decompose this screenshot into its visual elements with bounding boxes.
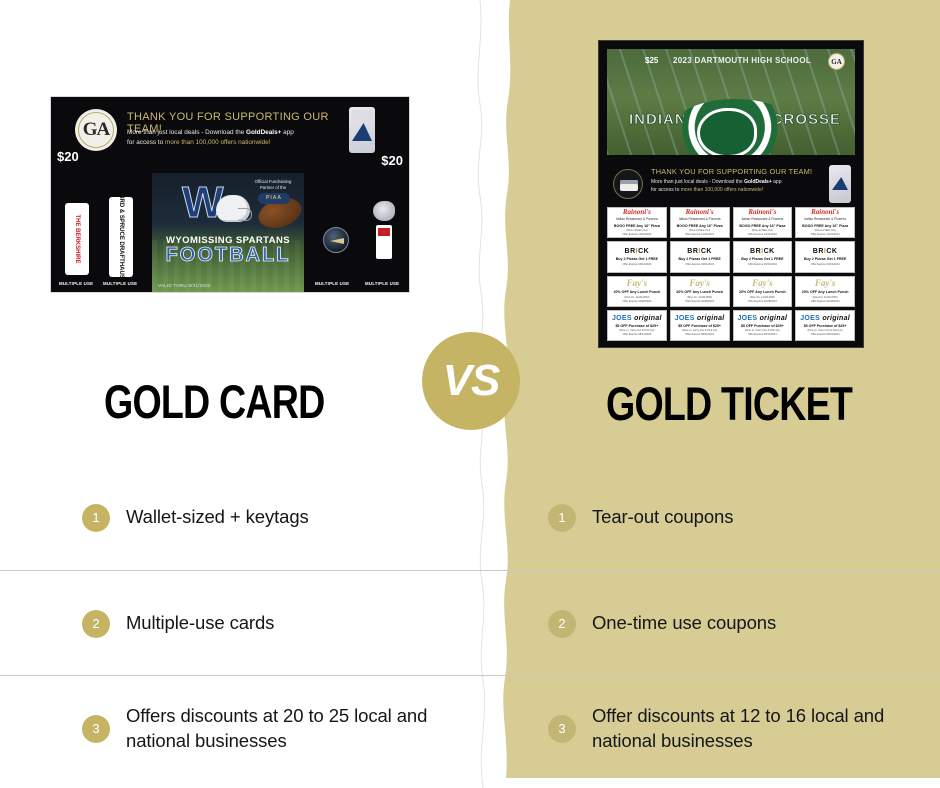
- coupon-brand: Rainoni's: [748, 209, 776, 216]
- logo-ring: [78, 112, 114, 148]
- coupon-note: (Dine-In, Carry-Out & Pick-Up): [682, 329, 717, 332]
- ticket-thanks-row: THANK YOU FOR SUPPORTING OUR TEAM! More …: [609, 165, 853, 205]
- left-title: GOLD CARD: [104, 374, 324, 429]
- feature-text: Offer discounts at 12 to 16 local and na…: [592, 704, 908, 754]
- feature-text: Wallet-sized + keytags: [126, 505, 309, 530]
- coupon: JOES original$5 OFF Purchase of $25+(Din…: [795, 310, 855, 341]
- card-price-left: $20: [57, 149, 79, 164]
- ticket-subline: More than just local deals - Download th…: [651, 178, 826, 194]
- vs-label: VS: [443, 359, 500, 403]
- coupon-tagline: Italian Restaurant & Pizzeria: [742, 217, 784, 221]
- keytag-use-label-2: MULTIPLE USE: [103, 281, 137, 286]
- feature-right-3: 3 Offer discounts at 12 to 16 local and …: [548, 676, 908, 781]
- coupon-offer: 20% OFF Any Lunch Punch: [739, 290, 786, 294]
- vs-badge: VS: [422, 332, 520, 430]
- coin-keytag-icon: [323, 227, 349, 253]
- ticket-school-name: 2023 DARTMOUTH HIGH SCHOOL: [673, 56, 811, 65]
- coupon-offer: $5 OFF Purchase of $25+: [615, 324, 658, 328]
- comparison-row-3: 3 Offers discounts at 20 to 25 local and…: [0, 675, 940, 780]
- coupon-offer: Buy 2 Pizzas Get 1 FREE: [741, 257, 783, 261]
- coupon-note: (Dine-In/Take-Out): [814, 229, 835, 232]
- coupon-offer: 20% OFF Any Lunch Punch: [802, 290, 849, 294]
- coupon-expiry: Offer Expires 02/28/2024: [748, 300, 777, 303]
- gold-athletics-badge-icon: GA: [828, 53, 845, 70]
- coupon-offer: BOGO FREE Any 16" Pizza: [739, 224, 785, 228]
- coupon-expiry: Offer Expires 02/28/2024: [622, 300, 651, 303]
- keytag-use-label-1: MULTIPLE USE: [59, 281, 93, 286]
- hero-valid-thru: VALID THRU 8/31/2022: [158, 283, 211, 288]
- coupon-note: (Mon-Fri, 11AM-2PM): [813, 296, 838, 299]
- wallet-card-icon: [613, 169, 643, 199]
- coupon-expiry: Offer Expires 12/31/2024: [811, 233, 840, 236]
- mini-card-keytag: [376, 225, 392, 259]
- card-subline: More than just local deals - Download th…: [127, 128, 343, 148]
- coupon-expiry: Offer Expires 08/31/2024: [748, 333, 777, 336]
- feature-number-badge: 2: [82, 610, 110, 638]
- feature-number-badge: 3: [82, 715, 110, 743]
- feature-number-badge: 3: [548, 715, 576, 743]
- coupon-note: (Dine-In, Carry-Out & Pick-Up): [745, 329, 780, 332]
- comparison-row-1: 1 Wallet-sized + keytags 1 Tear-out coup…: [0, 465, 940, 570]
- card-price-right: $20: [381, 153, 403, 168]
- keytag-use-label-3: MULTIPLE USE: [315, 281, 349, 286]
- gold-ticket-artwork: $25 2023 DARTMOUTH HIGH SCHOOL GA INDIAN…: [598, 40, 864, 348]
- ticket-phone-app-icon: [829, 165, 851, 203]
- coupon: Rainoni'sItalian Restaurant & PizzeriaBO…: [670, 207, 730, 238]
- coupon: BRICKBuy 2 Pizzas Get 1 FREEOffer Expire…: [733, 241, 793, 272]
- keytag-use-label-4: MULTIPLE USE: [365, 281, 399, 286]
- gold-athletics-logo-icon: GA: [75, 109, 117, 151]
- coupon: JOES original$5 OFF Purchase of $25+(Din…: [670, 310, 730, 341]
- coupon: Rainoni'sItalian Restaurant & PizzeriaBO…: [733, 207, 793, 238]
- coupon: Fay's20% OFF Any Lunch Punch(Mon-Fri, 11…: [607, 276, 667, 307]
- comparison-infographic: GA $20 $20 THANK YOU FOR SUPPORTING OUR …: [0, 0, 940, 788]
- coupon-expiry: Offer Expires 03/31/2024: [685, 263, 714, 266]
- coupon-note: (Mon-Fri, 11AM-2PM): [624, 296, 649, 299]
- coupon-offer: $5 OFF Purchase of $25+: [741, 324, 784, 328]
- coupon-expiry: Offer Expires 03/31/2024: [748, 263, 777, 266]
- feature-left-2: 2 Multiple-use cards: [82, 571, 442, 676]
- fundraising-partner-text: Official Fundraising Partner of the: [247, 179, 299, 191]
- feature-number-badge: 1: [82, 504, 110, 532]
- coupon-note: (Dine-In, Carry-Out & Pick-Up): [619, 329, 654, 332]
- coupon-offer: BOGO FREE Any 16" Pizza: [614, 224, 660, 228]
- ticket-headline: THANK YOU FOR SUPPORTING OUR TEAM!: [651, 167, 812, 176]
- coupon-brand: BRICK: [813, 248, 838, 255]
- hero-team-name: WYOMISSING SPARTANS: [152, 235, 304, 246]
- comparison-row-2: 2 Multiple-use cards 2 One-time use coup…: [0, 570, 940, 675]
- coupon: Fay's20% OFF Any Lunch Punch(Mon-Fri, 11…: [670, 276, 730, 307]
- coupon-expiry: Offer Expires 12/31/2024: [622, 233, 651, 236]
- coupon-note: (Mon-Fri, 11AM-2PM): [687, 296, 712, 299]
- coupon-brand: JOES original: [675, 315, 725, 322]
- coupon-expiry: Offer Expires 12/31/2024: [685, 233, 714, 236]
- feature-right-1: 1 Tear-out coupons: [548, 465, 908, 570]
- feature-text: Multiple-use cards: [126, 611, 274, 636]
- feature-text: One-time use coupons: [592, 611, 776, 636]
- keytag-berkshire: THE BERKSHIRE: [65, 203, 89, 275]
- feature-left-3: 3 Offers discounts at 20 to 25 local and…: [82, 676, 442, 781]
- coupon-offer: 20% OFF Any Lunch Punch: [613, 290, 660, 294]
- feature-text: Offers discounts at 20 to 25 local and n…: [126, 704, 442, 754]
- coupon-offer: $5 OFF Purchase of $25+: [678, 324, 721, 328]
- coupon: Rainoni'sItalian Restaurant & PizzeriaBO…: [795, 207, 855, 238]
- feature-number-badge: 1: [548, 504, 576, 532]
- coupon-brand: Fay's: [627, 279, 648, 288]
- coupon-offer: BOGO FREE Any 16" Pizza: [677, 224, 723, 228]
- ticket-price: $25: [645, 56, 658, 65]
- coupon-brand: BRICK: [687, 248, 712, 255]
- coupon-note: (Mon-Fri, 11AM-2PM): [750, 296, 775, 299]
- gold-card-artwork: GA $20 $20 THANK YOU FOR SUPPORTING OUR …: [50, 96, 410, 293]
- coupon-note: (Dine-In/Take-Out): [752, 229, 773, 232]
- coupon-offer: Buy 2 Pizzas Get 1 FREE: [678, 257, 720, 261]
- coupon-tagline: Italian Restaurant & Pizzeria: [616, 217, 658, 221]
- feature-number-badge: 2: [548, 610, 576, 638]
- feature-right-2: 2 One-time use coupons: [548, 571, 908, 676]
- coupon: BRICKBuy 2 Pizzas Get 1 FREEOffer Expire…: [607, 241, 667, 272]
- coupon: JOES original$5 OFF Purchase of $25+(Din…: [607, 310, 667, 341]
- coupon-offer: $5 OFF Purchase of $25+: [804, 324, 847, 328]
- coupon-brand: JOES original: [800, 315, 850, 322]
- coupon-offer: 20% OFF Any Lunch Punch: [676, 290, 723, 294]
- phone-app-icon: [349, 107, 375, 153]
- coupon-offer: Buy 2 Pizzas Get 1 FREE: [804, 257, 846, 261]
- coupon-note: (Dine-In, Carry-Out & Pick-Up): [808, 329, 843, 332]
- keytag-drafthaus: 3RD & SPRUCE DRAFTHAUS: [109, 197, 133, 277]
- helmet-icon: [216, 195, 250, 222]
- coupon-brand: JOES original: [737, 315, 787, 322]
- coupon: Rainoni'sItalian Restaurant & PizzeriaBO…: [607, 207, 667, 238]
- coupon-brand: Rainoni's: [686, 209, 714, 216]
- coupon-offer: BOGO FREE Any 16" Pizza: [802, 224, 848, 228]
- coupon-brand: Rainoni's: [623, 209, 651, 216]
- comparison-rows: 1 Wallet-sized + keytags 1 Tear-out coup…: [0, 465, 940, 780]
- coupon-note: (Dine-In/Take-Out): [626, 229, 647, 232]
- coupon-expiry: Offer Expires 08/31/2024: [685, 333, 714, 336]
- coupon: JOES original$5 OFF Purchase of $25+(Din…: [733, 310, 793, 341]
- coupon-expiry: Offer Expires 03/31/2024: [622, 263, 651, 266]
- feature-left-1: 1 Wallet-sized + keytags: [82, 465, 442, 570]
- right-title: GOLD TICKET: [606, 376, 852, 431]
- coupon-brand: BRICK: [625, 248, 650, 255]
- coupon-brand: Rainoni's: [811, 209, 839, 216]
- coupon: BRICKBuy 2 Pizzas Get 1 FREEOffer Expire…: [795, 241, 855, 272]
- coupon-offer: Buy 2 Pizzas Get 1 FREE: [616, 257, 658, 261]
- coupon-brand: BRICK: [750, 248, 775, 255]
- coupon-expiry: Offer Expires 08/31/2024: [811, 333, 840, 336]
- coupon-expiry: Offer Expires 12/31/2024: [748, 233, 777, 236]
- coupon-tagline: Italian Restaurant & Pizzeria: [679, 217, 721, 221]
- coupon-grid: Rainoni'sItalian Restaurant & PizzeriaBO…: [607, 207, 855, 341]
- coupon-brand: Fay's: [689, 279, 710, 288]
- coupon-expiry: Offer Expires 02/28/2024: [811, 300, 840, 303]
- coupon-tagline: Italian Restaurant & Pizzeria: [804, 217, 846, 221]
- coupon: BRICKBuy 2 Pizzas Get 1 FREEOffer Expire…: [670, 241, 730, 272]
- coupon-brand: Fay's: [752, 279, 773, 288]
- coupon-brand: JOES original: [612, 315, 662, 322]
- whistle-keytag-icon: [373, 201, 395, 221]
- coupon-expiry: Offer Expires 02/28/2024: [685, 300, 714, 303]
- coupon-brand: Fay's: [815, 279, 836, 288]
- feature-text: Tear-out coupons: [592, 505, 733, 530]
- coupon: Fay's20% OFF Any Lunch Punch(Mon-Fri, 11…: [733, 276, 793, 307]
- hero-sport: FOOTBALL: [152, 245, 304, 265]
- coupon-expiry: Offer Expires 08/31/2024: [622, 333, 651, 336]
- coupon-expiry: Offer Expires 03/31/2024: [811, 263, 840, 266]
- mascot-head-icon: [670, 99, 800, 155]
- card-hero-image: W Official Fundraising Partner of the PI…: [152, 173, 304, 293]
- ticket-hero-image: $25 2023 DARTMOUTH HIGH SCHOOL GA INDIAN…: [607, 49, 855, 155]
- coupon: Fay's20% OFF Any Lunch Punch(Mon-Fri, 11…: [795, 276, 855, 307]
- piaa-logo: PIAA: [258, 193, 290, 204]
- coupon-note: (Dine-In/Take-Out): [689, 229, 710, 232]
